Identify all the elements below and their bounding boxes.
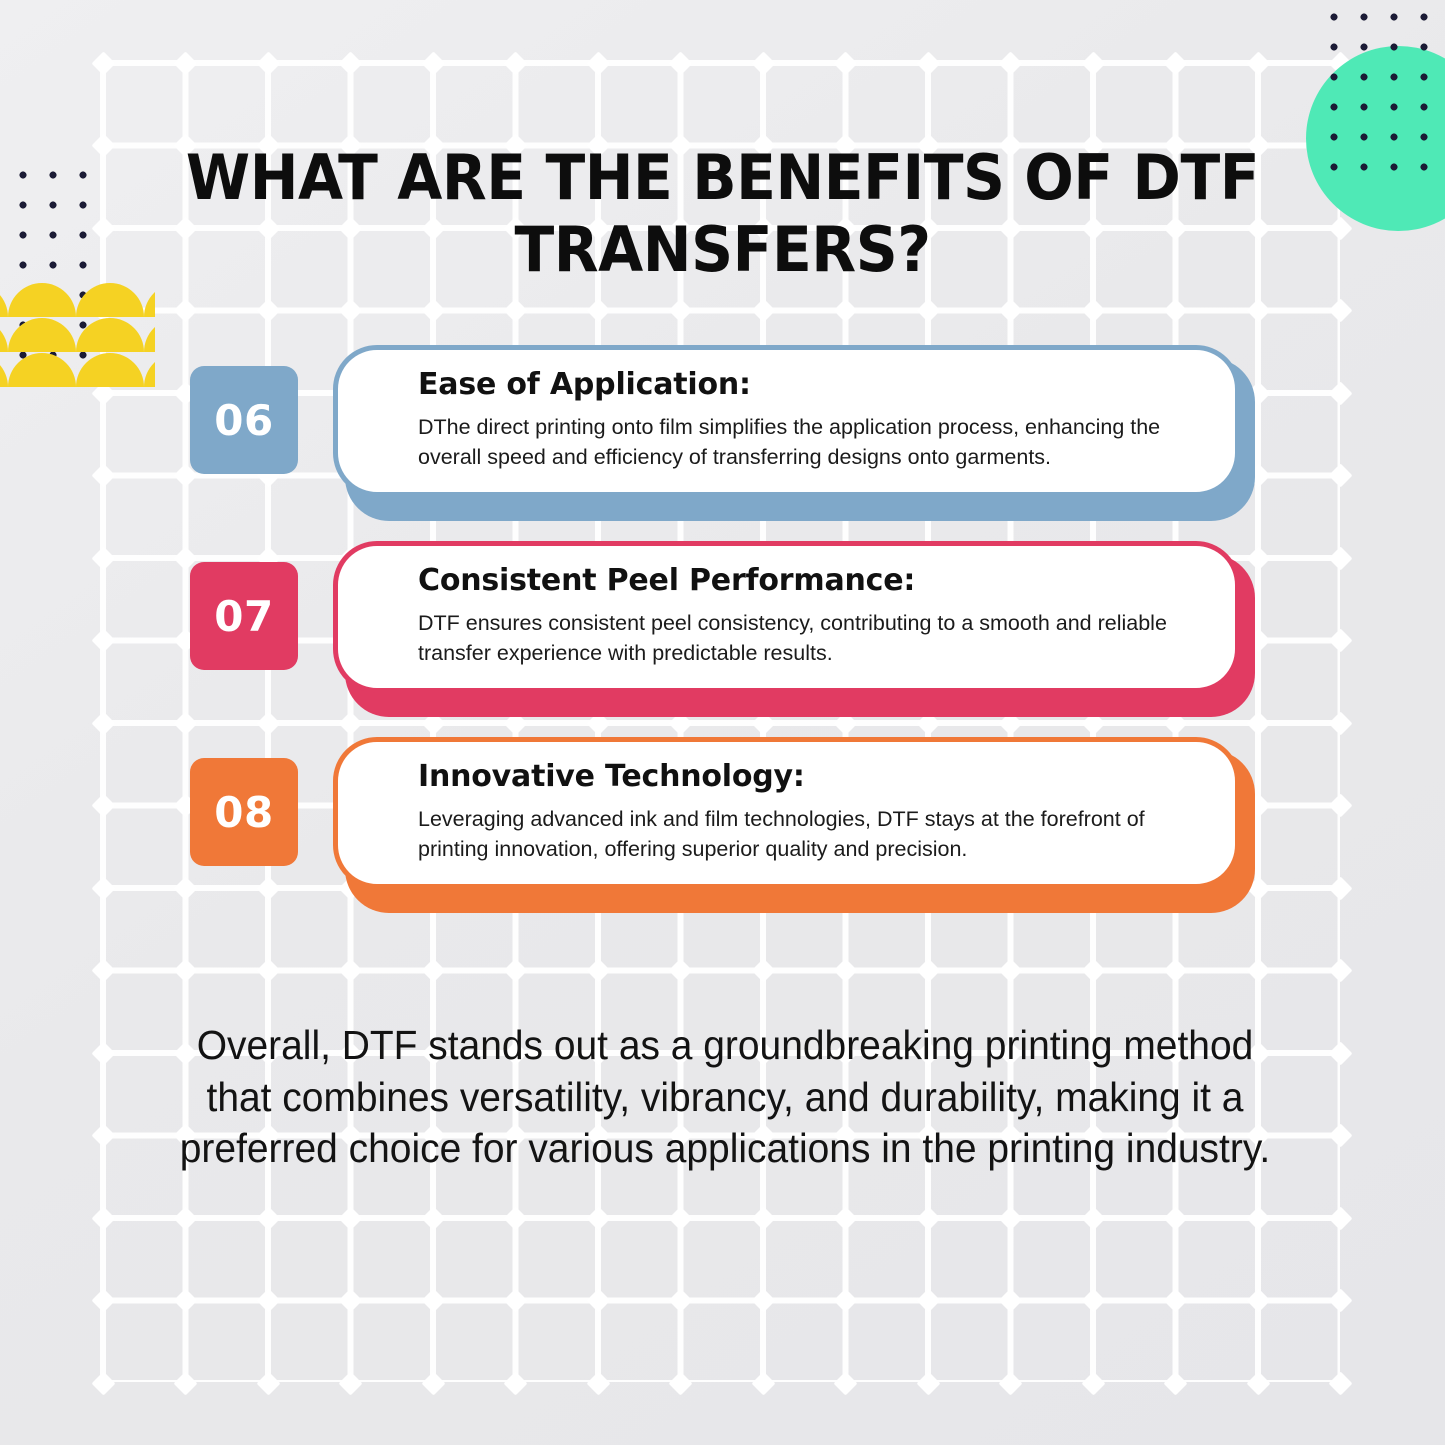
grid-node-diamond: [91, 133, 115, 157]
grid-node-diamond: [1246, 1206, 1270, 1230]
grid-node-diamond: [916, 1206, 940, 1230]
semicircle-shape: [76, 283, 144, 317]
grid-node-diamond: [1328, 1206, 1352, 1230]
grid-node-diamond: [586, 298, 610, 322]
grid-node-diamond: [916, 51, 940, 75]
benefit-card-06: 06 Ease of Application: DThe direct prin…: [0, 340, 1445, 536]
grid-node-diamond: [421, 958, 445, 982]
grid-node-diamond: [916, 1288, 940, 1312]
grid-node-diamond: [421, 1206, 445, 1230]
card-description-06: DThe direct printing onto film simplifie…: [418, 412, 1199, 473]
card-number-badge-08: 08: [190, 758, 298, 866]
grid-node-diamond: [998, 298, 1022, 322]
grid-node-diamond: [1163, 298, 1187, 322]
semicircle-row: [0, 283, 155, 317]
grid-node-diamond: [338, 1288, 362, 1312]
grid-node-diamond: [256, 1206, 280, 1230]
grid-node-diamond: [586, 1371, 610, 1395]
grid-node-diamond: [1081, 298, 1105, 322]
grid-node-diamond: [421, 51, 445, 75]
grid-node-diamond: [91, 51, 115, 75]
benefit-card-08: 08 Innovative Technology: Leveraging adv…: [0, 732, 1445, 928]
grid-node-diamond: [586, 958, 610, 982]
grid-node-diamond: [1328, 298, 1352, 322]
grid-node-diamond: [668, 958, 692, 982]
grid-node-diamond: [1246, 51, 1270, 75]
semicircle-shape: [0, 283, 8, 317]
grid-node-diamond: [1328, 1123, 1352, 1147]
grid-node-diamond: [998, 51, 1022, 75]
grid-node-diamond: [668, 1206, 692, 1230]
grid-node-diamond: [338, 1371, 362, 1395]
grid-node-diamond: [256, 958, 280, 982]
grid-node-diamond: [586, 51, 610, 75]
grid-node-diamond: [1246, 958, 1270, 982]
grid-node-diamond: [833, 1206, 857, 1230]
grid-node-diamond: [421, 1288, 445, 1312]
grid-node-diamond: [173, 1288, 197, 1312]
grid-node-diamond: [91, 1206, 115, 1230]
grid-node-diamond: [1163, 1371, 1187, 1395]
grid-node-diamond: [256, 1288, 280, 1312]
grid-node-diamond: [668, 1288, 692, 1312]
grid-node-diamond: [751, 1371, 775, 1395]
infographic-poster: WHAT ARE THE BENEFITS OF DTF TRANSFERS? …: [0, 0, 1445, 1445]
grid-node-diamond: [503, 51, 527, 75]
grid-node-diamond: [1328, 1288, 1352, 1312]
benefit-card-list: 06 Ease of Application: DThe direct prin…: [0, 340, 1445, 928]
grid-node-diamond: [1246, 298, 1270, 322]
grid-node-diamond: [503, 1206, 527, 1230]
grid-node-diamond: [421, 1371, 445, 1395]
grid-node-diamond: [173, 51, 197, 75]
grid-node-diamond: [1163, 958, 1187, 982]
grid-node-diamond: [1328, 958, 1352, 982]
grid-node-diamond: [503, 1288, 527, 1312]
grid-node-diamond: [833, 51, 857, 75]
grid-node-diamond: [1081, 958, 1105, 982]
grid-node-diamond: [916, 958, 940, 982]
grid-node-diamond: [668, 298, 692, 322]
card-description-07: DTF ensures consistent peel consistency,…: [418, 608, 1199, 669]
benefit-card-07: 07 Consistent Peel Performance: DTF ensu…: [0, 536, 1445, 732]
grid-node-diamond: [256, 1371, 280, 1395]
grid-node-diamond: [751, 51, 775, 75]
summary-paragraph: Overall, DTF stands out as a groundbreak…: [179, 1020, 1272, 1175]
card-heading-08: Innovative Technology:: [418, 758, 1199, 796]
grid-node-diamond: [833, 1371, 857, 1395]
card-description-08: Leveraging advanced ink and film technol…: [418, 804, 1199, 865]
card-heading-07: Consistent Peel Performance:: [418, 562, 1199, 600]
card-heading-06: Ease of Application:: [418, 366, 1199, 404]
grid-node-diamond: [338, 1206, 362, 1230]
grid-node-diamond: [91, 1123, 115, 1147]
grid-node-diamond: [338, 298, 362, 322]
grid-node-diamond: [173, 1206, 197, 1230]
grid-node-diamond: [338, 958, 362, 982]
grid-node-diamond: [1081, 1371, 1105, 1395]
grid-node-diamond: [586, 1288, 610, 1312]
grid-node-diamond: [586, 1206, 610, 1230]
grid-node-diamond: [751, 298, 775, 322]
page-title: WHAT ARE THE BENEFITS OF DTF TRANSFERS?: [137, 142, 1307, 286]
grid-node-diamond: [916, 298, 940, 322]
grid-node-diamond: [338, 51, 362, 75]
grid-node-diamond: [751, 958, 775, 982]
grid-node-diamond: [256, 298, 280, 322]
card-number-badge-06: 06: [190, 366, 298, 474]
grid-node-diamond: [91, 1371, 115, 1395]
grid-node-diamond: [1163, 1288, 1187, 1312]
grid-node-diamond: [751, 1288, 775, 1312]
grid-node-diamond: [421, 298, 445, 322]
semicircle-shape: [144, 283, 155, 317]
grid-node-diamond: [1081, 1206, 1105, 1230]
grid-node-diamond: [1246, 1371, 1270, 1395]
card-panel-06[interactable]: Ease of Application: DThe direct printin…: [333, 345, 1240, 497]
card-panel-08[interactable]: Innovative Technology: Leveraging advanc…: [333, 737, 1240, 889]
grid-node-diamond: [173, 958, 197, 982]
grid-node-diamond: [1163, 1206, 1187, 1230]
grid-node-diamond: [91, 1041, 115, 1065]
card-panel-07[interactable]: Consistent Peel Performance: DTF ensures…: [333, 541, 1240, 693]
grid-node-diamond: [1328, 216, 1352, 240]
card-number-badge-07: 07: [190, 562, 298, 670]
grid-node-diamond: [173, 298, 197, 322]
grid-node-diamond: [998, 1288, 1022, 1312]
grid-node-diamond: [503, 298, 527, 322]
grid-node-diamond: [833, 298, 857, 322]
grid-node-diamond: [668, 1371, 692, 1395]
grid-node-diamond: [998, 1206, 1022, 1230]
grid-node-diamond: [1246, 1288, 1270, 1312]
grid-node-diamond: [1328, 1041, 1352, 1065]
grid-node-diamond: [998, 958, 1022, 982]
grid-node-diamond: [503, 1371, 527, 1395]
grid-node-diamond: [1081, 51, 1105, 75]
grid-node-diamond: [833, 958, 857, 982]
grid-node-diamond: [751, 1206, 775, 1230]
grid-node-diamond: [256, 51, 280, 75]
dot-grid-topright: [1319, 2, 1441, 172]
grid-node-diamond: [173, 1371, 197, 1395]
grid-node-diamond: [833, 1288, 857, 1312]
grid-node-diamond: [1328, 1371, 1352, 1395]
grid-node-diamond: [1081, 1288, 1105, 1312]
grid-node-diamond: [503, 958, 527, 982]
semicircle-shape: [8, 283, 76, 317]
grid-node-diamond: [998, 1371, 1022, 1395]
grid-node-diamond: [91, 1288, 115, 1312]
grid-node-diamond: [668, 51, 692, 75]
grid-node-diamond: [1163, 51, 1187, 75]
grid-node-diamond: [916, 1371, 940, 1395]
grid-node-diamond: [91, 958, 115, 982]
